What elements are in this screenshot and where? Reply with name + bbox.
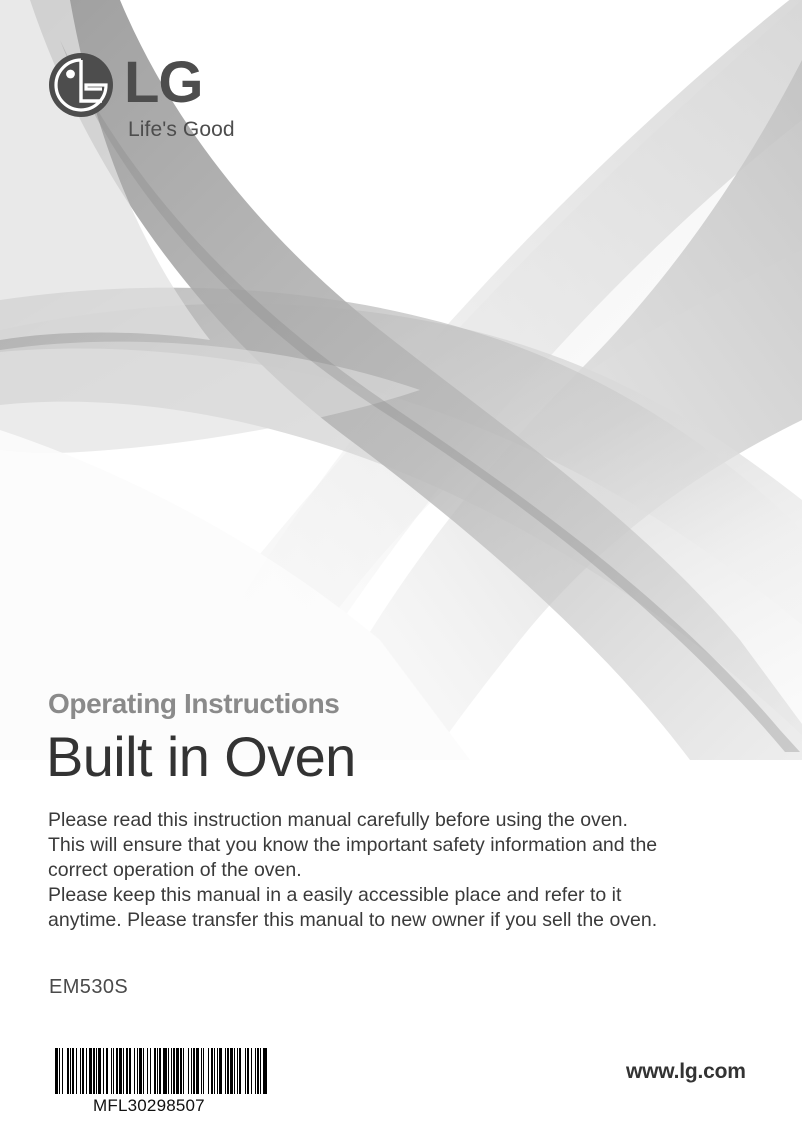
barcode-icon: [55, 1048, 269, 1094]
intro-line: Please keep this manual in a easily acce…: [48, 883, 754, 908]
intro-line: This will ensure that you know the impor…: [48, 833, 754, 858]
lg-logo: LG Life's Good: [48, 52, 268, 152]
kicker-operating-instructions: Operating Instructions: [48, 688, 339, 720]
lg-smile-logo-icon: [48, 52, 114, 118]
intro-line: anytime. Please transfer this manual to …: [48, 908, 754, 933]
lg-wordmark: LG: [124, 50, 203, 116]
barcode-block: MFL30298507: [55, 1048, 269, 1116]
website-url: www.lg.com: [626, 1060, 746, 1084]
model-number: EM530S: [49, 976, 128, 999]
document-cover-page: LG Life's Good Operating Instructions Bu…: [0, 0, 802, 1138]
page-title: Built in Oven: [46, 724, 356, 789]
barcode-number: MFL30298507: [55, 1096, 269, 1116]
lg-tagline: Life's Good: [128, 118, 235, 142]
intro-line: correct operation of the oven.: [48, 858, 754, 883]
intro-line: Please read this instruction manual care…: [48, 808, 754, 833]
intro-paragraph: Please read this instruction manual care…: [48, 808, 754, 933]
